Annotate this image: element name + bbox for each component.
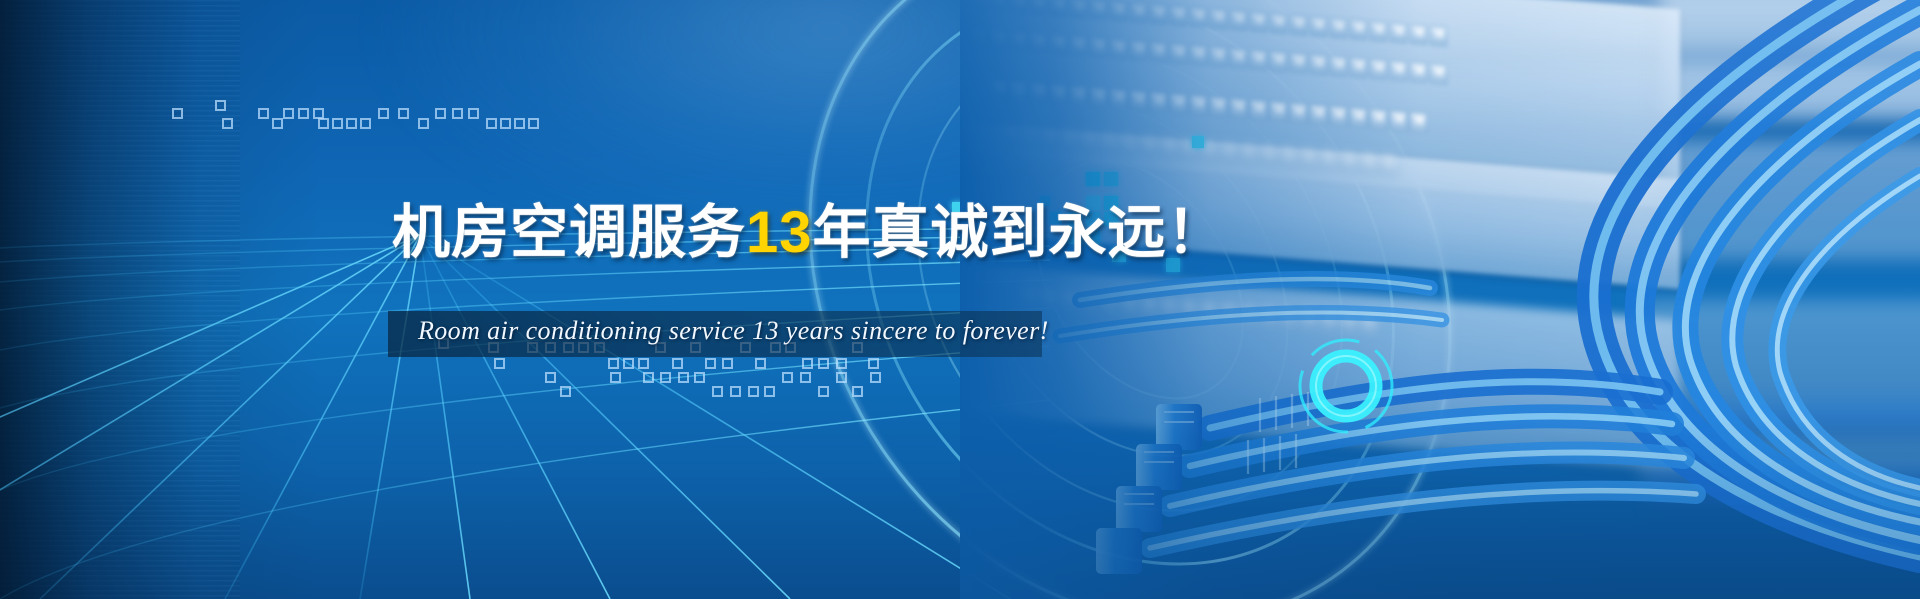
decor-square-outline — [852, 386, 863, 397]
decor-square-outline — [222, 118, 233, 129]
decor-square-outline — [346, 118, 357, 129]
decor-square-outline — [528, 118, 539, 129]
decor-square-outline — [378, 108, 389, 119]
decor-square-outline — [500, 118, 511, 129]
decor-square-outline — [672, 358, 683, 369]
decor-square-outline — [660, 372, 671, 383]
headline-part1: 机房空调服务 — [392, 200, 746, 265]
decor-square-outline — [643, 372, 654, 383]
decor-square-outline — [360, 118, 371, 129]
decor-square-outline — [748, 386, 759, 397]
decor-square-outline — [283, 108, 294, 119]
decor-square-outline — [694, 372, 705, 383]
decor-square-outline — [494, 358, 505, 369]
decor-square-outline — [722, 358, 733, 369]
decor-square-outline — [678, 372, 689, 383]
decor-square-outline — [730, 386, 741, 397]
decor-square-outline — [215, 100, 226, 111]
decor-square-outline — [836, 372, 847, 383]
decor-square-outline — [318, 118, 329, 129]
decor-square-outline — [435, 108, 446, 119]
decor-square-outline — [398, 108, 409, 119]
decor-square-outline — [545, 372, 556, 383]
decor-square-outline — [755, 358, 766, 369]
decor-square-outline — [272, 118, 283, 129]
decor-square-outline — [764, 386, 775, 397]
decor-square-outline — [800, 372, 811, 383]
decor-square-outline — [298, 108, 309, 119]
datacenter-photo — [960, 0, 1920, 599]
decor-square-outline — [712, 386, 723, 397]
decor-square-outline — [258, 108, 269, 119]
decor-square-outline — [514, 118, 525, 129]
decor-square-outline — [818, 358, 829, 369]
decor-square-outline — [782, 372, 793, 383]
decor-square-outline — [418, 118, 429, 129]
decor-square-outline — [486, 118, 497, 129]
banner-root: 机房空调服务13年真诚到永远！ Room air conditioning se… — [0, 0, 1920, 599]
decor-square-outline — [332, 118, 343, 129]
decor-square-outline — [608, 358, 619, 369]
decor-square-outline — [818, 386, 829, 397]
photo-vertical-fade — [960, 0, 1920, 599]
decor-square-outline — [638, 358, 649, 369]
headline-part2: 年真诚到永远！ — [813, 200, 1226, 265]
decor-square-outline — [836, 358, 847, 369]
decor-square-outline — [802, 358, 813, 369]
decor-square-outline — [560, 386, 571, 397]
decor-square-outline — [452, 108, 463, 119]
headline-number: 13 — [746, 200, 813, 265]
decor-square-outline — [623, 358, 634, 369]
decor-square-outline — [705, 358, 716, 369]
headline: 机房空调服务13年真诚到永远！ — [392, 204, 1226, 262]
decor-square-outline — [868, 358, 879, 369]
decor-square-outline — [468, 108, 479, 119]
subtitle: Room air conditioning service 13 years s… — [418, 316, 1049, 346]
tech-ring-icon — [1292, 332, 1400, 440]
decor-square-outline — [172, 108, 183, 119]
decor-square-outline — [610, 372, 621, 383]
decor-square-outline — [870, 372, 881, 383]
